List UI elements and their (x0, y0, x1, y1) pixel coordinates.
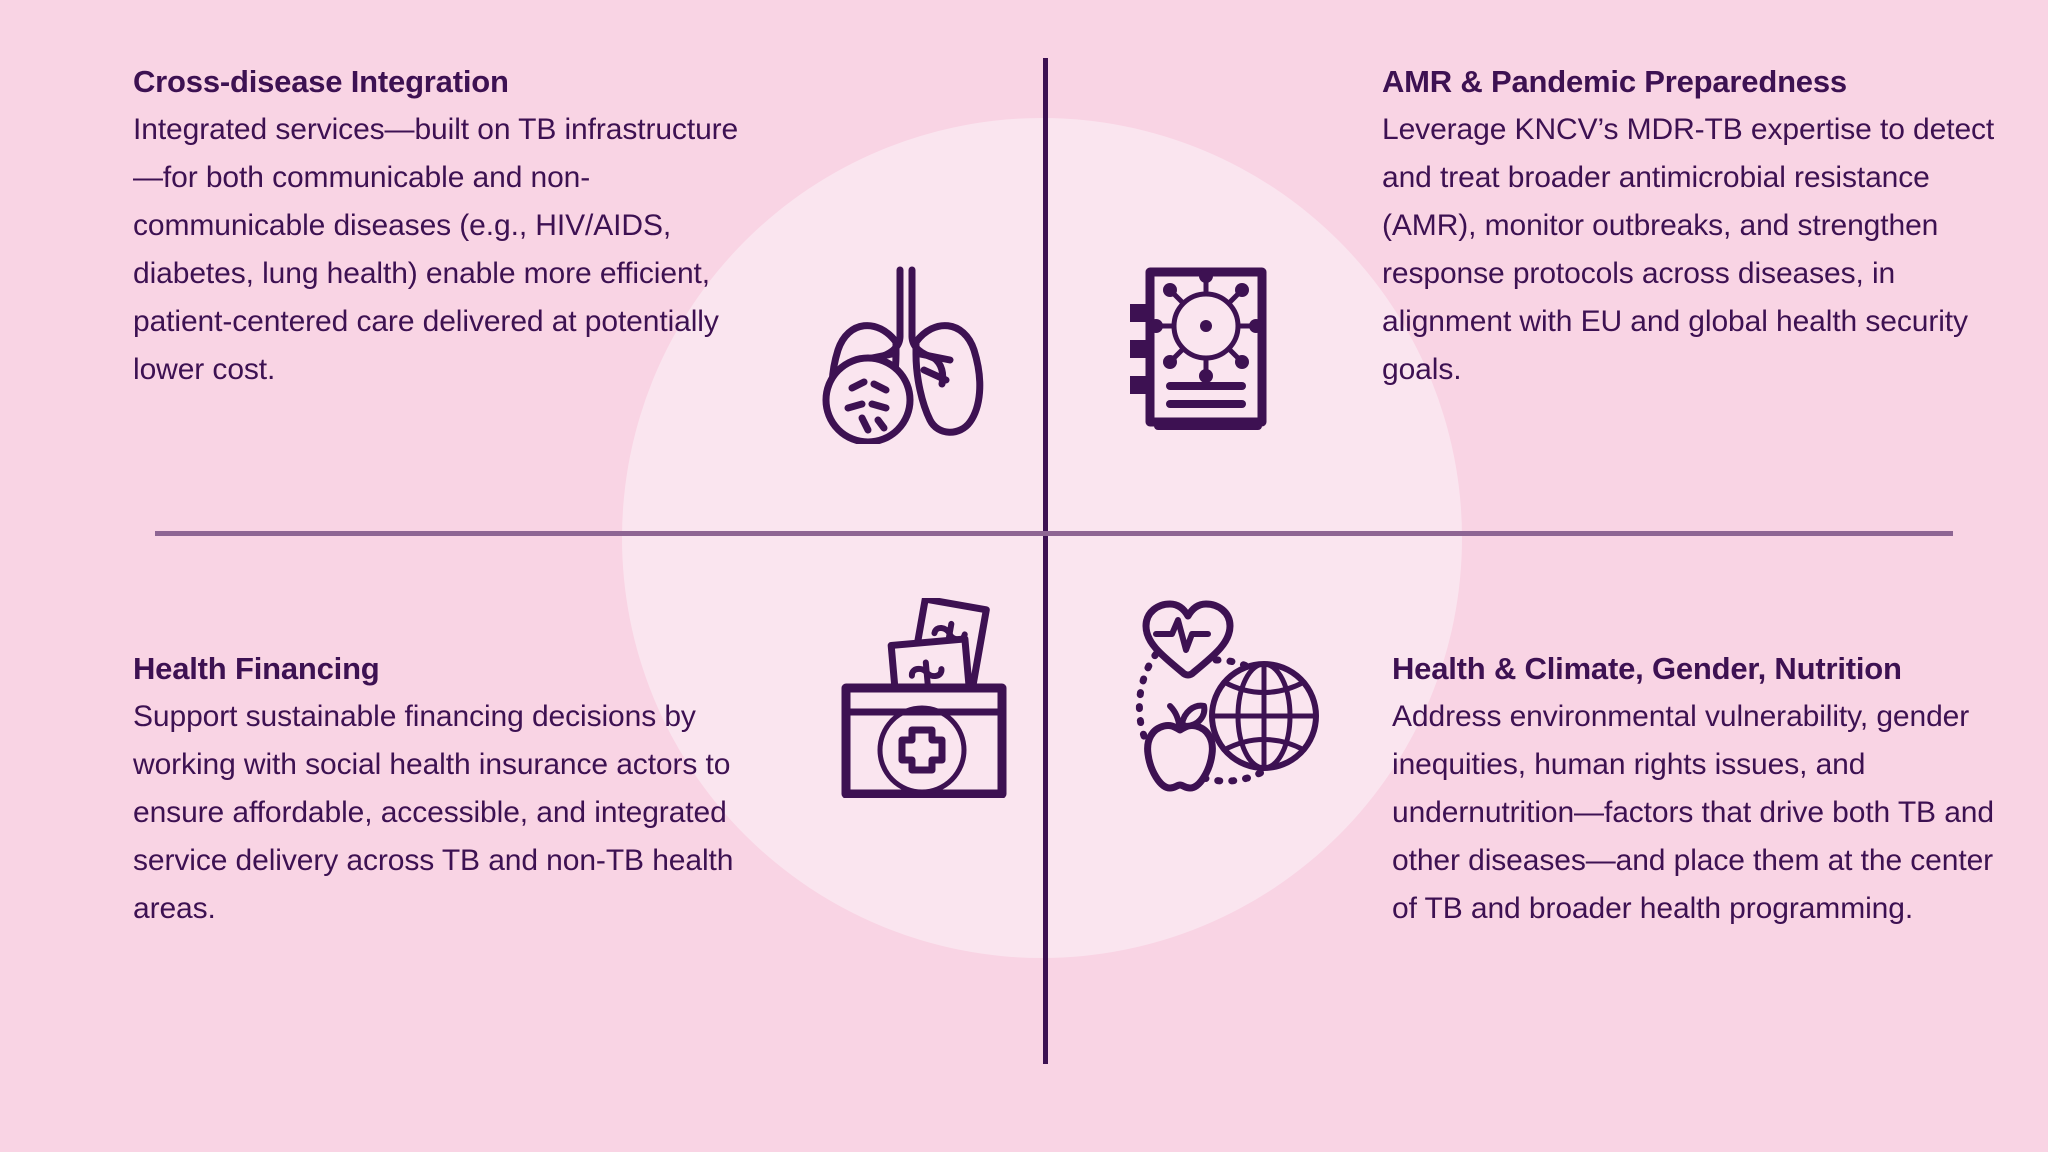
vertical-divider (1043, 58, 1048, 1064)
quadrant-body: Integrated services—built on TB infrastr… (133, 106, 753, 394)
quadrant-health-climate-gender-nutrition: Health & Climate, Gender, Nutrition Addr… (1392, 645, 2012, 933)
lungs-icon (808, 258, 1004, 444)
infographic-canvas: Cross-disease Integration Integrated ser… (0, 0, 2048, 1152)
horizontal-divider (155, 531, 1953, 536)
quadrant-body: Address environmental vulnerability, gen… (1392, 693, 2012, 933)
quadrant-title: AMR & Pandemic Preparedness (1382, 58, 2002, 106)
virus-notebook-icon (1128, 256, 1318, 446)
quadrant-body: Leverage KNCV’s MDR-TB expertise to dete… (1382, 106, 2002, 394)
quadrant-cross-disease-integration: Cross-disease Integration Integrated ser… (133, 58, 753, 394)
medical-funds-box-icon (832, 598, 1032, 798)
quadrant-title: Health & Climate, Gender, Nutrition (1392, 645, 2012, 693)
heart-globe-apple-icon (1120, 598, 1320, 792)
quadrant-title: Health Financing (133, 645, 753, 693)
quadrant-body: Support sustainable financing decisions … (133, 693, 753, 933)
quadrant-amr-pandemic-preparedness: AMR & Pandemic Preparedness Leverage KNC… (1382, 58, 2002, 394)
quadrant-title: Cross-disease Integration (133, 58, 753, 106)
quadrant-health-financing: Health Financing Support sustainable fin… (133, 645, 753, 933)
